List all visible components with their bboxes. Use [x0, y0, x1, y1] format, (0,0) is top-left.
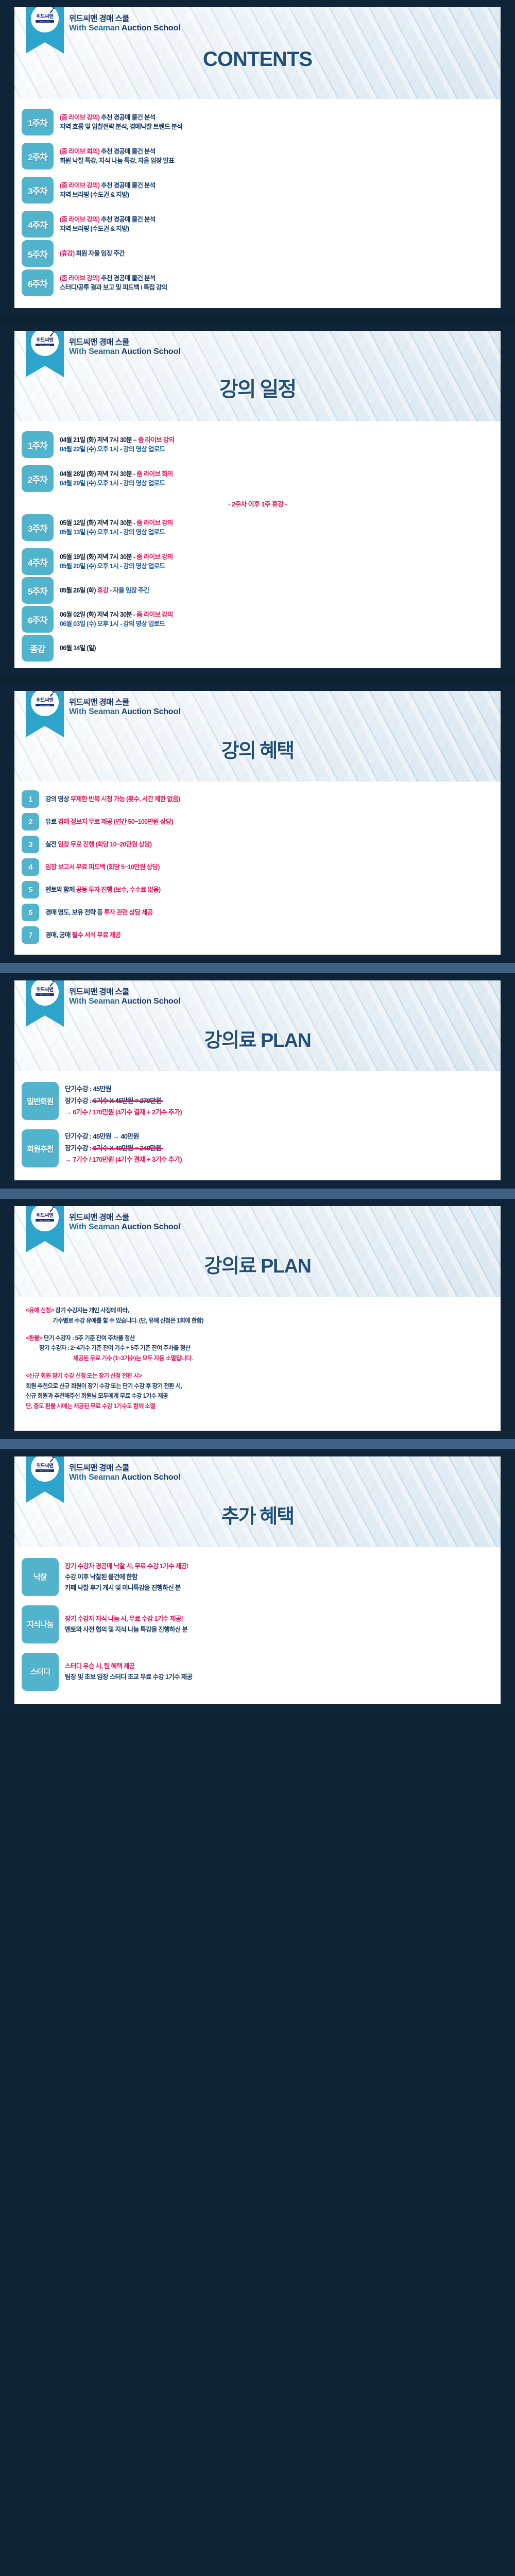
ribbon-fold-icon	[64, 980, 68, 981]
gavel-icon	[49, 980, 55, 987]
benefit-prefix: 경매 명도, 보유 전략 등	[45, 909, 104, 916]
row-line-1: (줌 라이브 강의) 추천 경공매 물건 분석	[60, 181, 492, 190]
logo-en-text: With Seaman	[40, 21, 50, 23]
row-line-2: 지역 흐름 및 입찰전략 분석, 경매낙찰 트렌드 분석	[60, 122, 492, 131]
benefit-hero: 위드씨맨 With Seaman 위드씨맨 경매 스쿨 With Seaman …	[14, 691, 501, 782]
plan-short-course: 단기수강 : 45만원 → 40만원	[65, 1132, 492, 1142]
section-divider	[0, 1439, 515, 1449]
table-row: 3주차 (줌 라이브 강의) 추천 경공매 물건 분석 지역 브리핑 (수도권 …	[14, 173, 501, 207]
extra-card: 위드씨맨 With Seaman 위드씨맨 경매 스쿨 With Seaman …	[14, 1456, 501, 1704]
plan-short-course: 단기수강 : 45만원	[65, 1084, 492, 1094]
benefit-highlight: 임장 보고서 무료 피드백 (회당 5~10만원 상당)	[45, 863, 160, 871]
brand-name-en-1: With Seaman	[69, 24, 122, 32]
ribbon-fold-icon	[64, 691, 68, 691]
row-date: 05월 12일 (화) 저녁 7시 30분 -	[60, 519, 136, 527]
ribbon-fold-icon	[64, 1206, 68, 1207]
extra-detail-1: 수강 이후 낙찰된 물건에 한함	[65, 1572, 492, 1582]
ribbon-fold-icon	[64, 7, 68, 8]
row-tag: 줌 라이브 강의	[136, 611, 173, 618]
note-text: 단기 수강자 : 5주 기준 잔여 주차를 정산	[42, 1335, 135, 1342]
row-line-1: (줌 라이브 강의) 추천 경공매 물건 분석	[60, 113, 492, 122]
extra-rows: 낙찰 장기 수강자 경공매 낙찰 시, 무료 수강 1기수 제공! 수강 이후 …	[14, 1547, 501, 1704]
row-date: 05월 26일 (화)	[60, 587, 97, 594]
brand-name-kr: 위드씨맨 경매 스쿨	[69, 338, 501, 347]
note-line: <유예 신청> 장기 수강자는 개인 사정에 따라,	[26, 1306, 489, 1316]
schedule-card: 위드씨맨 With Seaman 위드씨맨 경매 스쿨 With Seaman …	[14, 331, 501, 668]
extra-hero: 위드씨맨 With Seaman 위드씨맨 경매 스쿨 With Seaman …	[14, 1456, 501, 1547]
brand-name-en-2: Auction School	[122, 24, 181, 32]
row-body: 실전 임장 무료 진행 (회당 10~20만원 상당)	[39, 840, 492, 849]
note-line: 단, 중도 환불 시에는 제공된 무료 수강 1기수도 함께 소멸	[26, 1402, 489, 1412]
row-line-2: 스터디/공투 결과 보고 및 피드백 / 특집 강의	[60, 283, 492, 292]
spacer	[0, 1180, 515, 1189]
gavel-icon	[49, 331, 55, 337]
row-body: 유료 경매 정보지 무료 제공 (연간 50~100만원 상당)	[39, 817, 492, 826]
logo-kr-text: 위드씨맨	[37, 1464, 54, 1469]
benefit-text: 경매, 공매 필수 서식 무료 제공	[45, 930, 492, 940]
plan-long-course: 장기수강 : 6기수 X 45만원 = 270만원	[65, 1096, 492, 1106]
benefit-highlight: 임장 무료 진행 (회당 10~20만원 상당)	[58, 841, 151, 848]
schedule-rows: 1주차 04월 21일 (화) 저녁 7시 30분 – 줌 라이브 강의 04월…	[14, 421, 501, 668]
table-row: 2주차 (줌 라이브 회의) 추천 경공매 물건 분석 회원 낙찰 특강, 지식…	[14, 139, 501, 173]
row-line-2: 회원 낙찰 특강, 지식 나눔 특강, 자율 임장 발표	[60, 156, 492, 165]
row-line-1: 04월 21일 (화) 저녁 7시 30분 – 줌 라이브 강의	[60, 435, 492, 445]
benefit-highlight: 경매 정보지 무료 제공 (연간 50~100만원 상당)	[58, 818, 173, 825]
schedule-title: 강의 일정	[14, 372, 501, 402]
row-line-2: 04월 22일 (수) 오후 1시 - 강의 영상 업로드	[60, 445, 492, 454]
brand-ribbon: 위드씨맨 With Seaman	[26, 331, 64, 366]
brand-ribbon: 위드씨맨 With Seaman	[26, 7, 64, 42]
week-chip: 5주차	[22, 577, 54, 604]
week-chip: 3주차	[22, 177, 54, 204]
spacer	[0, 684, 515, 691]
row-body: 경매 명도, 보유 전략 등 투자 관련 상담 제공	[39, 908, 492, 917]
benefit-prefix: 경매, 공매	[45, 931, 72, 939]
benefit-prefix: 강의 영상	[45, 795, 71, 803]
row-tag: 줌 라이브 강의	[138, 436, 174, 444]
brand-block: 위드씨맨 경매 스쿨 With Seaman Auction School	[14, 1456, 501, 1483]
row-body: 04월 28일 (화) 저녁 7시 30분 - 줌 라이브 회의 04월 29일…	[54, 469, 492, 488]
pricing-row: 일반회원 단기수강 : 45만원 장기수강 : 6기수 X 45만원 = 270…	[14, 1077, 501, 1125]
gavel-icon	[49, 1206, 55, 1212]
brand-block: 위드씨맨 경매 스쿨 With Seaman Auction School	[14, 691, 501, 717]
benefit-rows: 1 강의 영상 무제한 반복 시청 가능 (횟수, 시간 제한 없음) 2 유료…	[14, 782, 501, 955]
note-text: 장기 수강자는 개인 사정에 따라,	[54, 1308, 129, 1314]
table-row: 6주차 (줌 라이브 강의) 추천 경공매 물건 분석 스터디/공투 결과 보고…	[14, 266, 501, 300]
extra-category-chip: 낙찰	[22, 1558, 59, 1596]
table-row: 4주차 (줌 라이브 강의) 추천 경공매 물건 분석 지역 브리핑 (수도권 …	[14, 207, 501, 241]
list-item: 7 경매, 공매 필수 서식 무료 제공	[14, 924, 501, 946]
row-line-1-tag: (줌 라이브 강의)	[60, 275, 99, 282]
table-row: 5주차 05월 26일 (화) 휴강 - 자율 임장 주간	[14, 579, 501, 602]
row-tag: 줌 라이브 강의	[136, 553, 173, 561]
row-line-1-tag: (휴강)	[60, 250, 75, 257]
benefit-text: 실전 임장 무료 진행 (회당 10~20만원 상당)	[45, 840, 492, 849]
section-schedule: 위드씨맨 With Seaman 위드씨맨 경매 스쿨 With Seaman …	[0, 324, 515, 676]
brand-ribbon: 위드씨맨 With Seaman	[26, 1456, 64, 1492]
row-tail: - 자율 임장 주간	[108, 587, 149, 594]
brand-ribbon: 위드씨맨 With Seaman	[26, 980, 64, 1015]
row-body: 장기 수강자 경공매 낙찰 시, 무료 수강 1기수 제공! 수강 이후 낙찰된…	[59, 1560, 492, 1594]
row-line-2: 지역 브리핑 (수도권 & 지방)	[60, 224, 492, 233]
week-chip: 4주차	[22, 548, 54, 575]
brand-name-en-2: Auction School	[122, 707, 181, 716]
benefit-number-chip: 7	[22, 926, 39, 944]
extra-detail-1: 팀장 및 초보 임장 스터디 조교 무료 수강 1기수 제공	[65, 1672, 492, 1682]
plan-offer-price: → 6기수 / 170만원 (4기수 결재 + 2기수 추가)	[65, 1108, 492, 1117]
row-date: 05월 19일 (화) 저녁 7시 30분 -	[60, 553, 136, 561]
row-line-1: (줌 라이브 회의) 추천 경공매 물건 분석	[60, 147, 492, 156]
section-divider	[0, 963, 515, 973]
row-line-1: 05월 12일 (화) 저녁 7시 30분 - 줌 라이브 강의	[60, 518, 492, 528]
table-row: 종강 06월 14일 (일)	[14, 636, 501, 660]
plan-hero: 위드씨맨 With Seaman 위드씨맨 경매 스쿨 With Seaman …	[14, 980, 501, 1071]
plan-notes-hero: 위드씨맨 With Seaman 위드씨맨 경매 스쿨 With Seaman …	[14, 1206, 501, 1297]
row-date: 04월 21일 (화) 저녁 7시 30분 –	[60, 436, 138, 444]
row-line-1: (줌 라이브 강의) 추천 경공매 물건 분석	[60, 274, 492, 283]
brand-name-en-2: Auction School	[122, 1473, 181, 1482]
row-line-2: 지역 브리핑 (수도권 & 지방)	[60, 190, 492, 199]
note-line: 회원 추천으로 신규 회원이 장기 수강 또는 단기 수강 후 장기 전환 시,	[26, 1382, 489, 1392]
section-divider	[0, 316, 515, 324]
logo-kr-text: 위드씨맨	[37, 14, 54, 20]
section-extra-benefit: 위드씨맨 With Seaman 위드씨맨 경매 스쿨 With Seaman …	[0, 1449, 515, 1712]
row-body: 임장 보고서 무료 피드백 (회당 5~10만원 상당)	[39, 862, 492, 872]
spacer	[0, 668, 515, 676]
spacer	[0, 1199, 515, 1206]
logo-kr-text: 위드씨맨	[37, 1213, 54, 1218]
logo-bar: With Seaman	[36, 1219, 54, 1222]
note-line: 제공된 무료 기수 (1~3기수)는 모두 자동 소멸됩니다.	[26, 1354, 489, 1364]
section-divider	[0, 676, 515, 684]
plan-notes-card: 위드씨맨 With Seaman 위드씨맨 경매 스쿨 With Seaman …	[14, 1206, 501, 1431]
brand-block: 위드씨맨 경매 스쿨 With Seaman Auction School	[14, 7, 501, 33]
extra-headline: 스터디 우승 시, 팀 혜택 제공	[65, 1662, 492, 1671]
page-root: 위드씨맨 With Seaman 위드씨맨 경매 스쿨 With Seaman …	[0, 0, 515, 1712]
week-chip: 5주차	[22, 240, 54, 267]
extra-title: 추가 혜택	[14, 1500, 501, 1529]
row-line-1: 06월 14일 (일)	[60, 643, 492, 653]
row-body: 멘토와 함께 공동 투자 진행 (보수, 수수료 없음)	[39, 885, 492, 894]
brand-name-kr: 위드씨맨 경매 스쿨	[69, 698, 501, 707]
row-body: 단기수강 : 45만원 → 40만원 장기수강 : 6기수 X 40만원 = 2…	[59, 1130, 492, 1167]
row-tag: 줌 라이브 강의	[136, 519, 173, 527]
row-line-2: 04월 29일 (수) 오후 1시 - 강의 영상 업로드	[60, 479, 492, 488]
gavel-icon	[49, 1456, 55, 1463]
logo-bar: With Seaman	[36, 993, 54, 996]
row-body: 경매, 공매 필수 서식 무료 제공	[39, 930, 492, 940]
section-contents: 위드씨맨 With Seaman 위드씨맨 경매 스쿨 With Seaman …	[0, 0, 515, 316]
row-date: 04월 28일 (화) 저녁 7시 30분 -	[60, 470, 136, 478]
note-line: 기수별로 수강 유예를 할 수 있습니다. (단, 유예 신청은 1회에 한함)	[26, 1316, 489, 1327]
section-plan-notes: 위드씨맨 With Seaman 위드씨맨 경매 스쿨 With Seaman …	[0, 1199, 515, 1439]
row-tag: 휴강	[97, 587, 109, 594]
list-item: 6 경매 명도, 보유 전략 등 투자 관련 상담 제공	[14, 901, 501, 924]
benefit-number-chip: 3	[22, 836, 39, 853]
benefit-prefix: 실전	[45, 841, 58, 848]
ribbon-fold-icon	[64, 1456, 68, 1457]
contents-card: 위드씨맨 With Seaman 위드씨맨 경매 스쿨 With Seaman …	[14, 7, 501, 308]
table-row: 6주차 06월 02일 (화) 저녁 7시 30분 - 줌 라이브 강의 06월…	[14, 602, 501, 636]
benefit-highlight: 무제한 반복 시청 가능 (횟수, 시간 제한 없음)	[71, 795, 180, 803]
row-body: (휴강) 회원 자율 임장 주간	[54, 249, 492, 258]
week-chip: 2주차	[22, 465, 54, 492]
benefit-card: 위드씨맨 With Seaman 위드씨맨 경매 스쿨 With Seaman …	[14, 691, 501, 955]
ribbon-fold-icon	[64, 331, 68, 331]
list-item: 4 임장 보고서 무료 피드백 (회당 5~10만원 상당)	[14, 856, 501, 878]
brand-name-en-1: With Seaman	[69, 707, 122, 716]
benefit-text: 임장 보고서 무료 피드백 (회당 5~10만원 상당)	[45, 862, 492, 872]
note-line: 신규 회원과 추천해주신 회원님 모두에게 무료 수강 1기수 제공	[26, 1392, 489, 1402]
brand-name-kr: 위드씨맨 경매 스쿨	[69, 1213, 501, 1223]
brand-name-en-1: With Seaman	[69, 1223, 122, 1231]
brand-name-kr: 위드씨맨 경매 스쿨	[69, 988, 501, 997]
brand-ribbon: 위드씨맨 With Seaman	[26, 691, 64, 726]
plan-offer-price: → 7기수 / 170만원 (4기수 결재 + 3기수 추가)	[65, 1155, 492, 1165]
member-type-chip: 회원추천	[22, 1129, 59, 1167]
section-benefit: 위드씨맨 With Seaman 위드씨맨 경매 스쿨 With Seaman …	[0, 684, 515, 963]
spacer	[0, 1704, 515, 1712]
logo-en-text: With Seaman	[40, 704, 50, 706]
list-item: 5 멘토와 함께 공동 투자 진행 (보수, 수수료 없음)	[14, 878, 501, 901]
row-body: 05월 19일 (화) 저녁 7시 30분 - 줌 라이브 강의 05월 20일…	[54, 552, 492, 571]
list-item: 3 실전 임장 무료 진행 (회당 10~20만원 상당)	[14, 833, 501, 856]
spacer	[0, 324, 515, 331]
brand-name-en: With Seaman Auction School	[69, 1473, 501, 1483]
row-body: 04월 21일 (화) 저녁 7시 30분 – 줌 라이브 강의 04월 22일…	[54, 435, 492, 454]
benefit-number-chip: 6	[22, 904, 39, 921]
brand-block: 위드씨맨 경매 스쿨 With Seaman Auction School	[14, 980, 501, 1007]
table-row: 2주차 04월 28일 (화) 저녁 7시 30분 - 줌 라이브 회의 04월…	[14, 462, 501, 496]
note-line: 장기 수강자 : 2~4기수 기준 잔여 기수 + 5주 기준 잔여 주차를 정…	[26, 1344, 489, 1354]
row-line-1: 05월 26일 (화) 휴강 - 자율 임장 주간	[60, 586, 492, 595]
logo-en-text: With Seaman	[40, 1470, 50, 1472]
list-item: 1 강의 영상 무제한 반복 시청 가능 (횟수, 시간 제한 없음)	[14, 788, 501, 810]
extra-headline: 장기 수강자 지식 나눔 시, 무료 수강 1기수 제공!	[65, 1614, 492, 1623]
row-line-1-tag: (줌 라이브 강의)	[60, 216, 99, 223]
row-line-2: 05월 13일 (수) 오후 1시 - 강의 영상 업로드	[60, 528, 492, 537]
logo-kr-text: 위드씨맨	[37, 698, 54, 703]
week-chip: 1주차	[22, 109, 54, 135]
plan-long-course: 장기수강 : 6기수 X 40만원 = 240만원	[65, 1144, 492, 1154]
row-line-1-tag: (줌 라이브 강의)	[60, 182, 99, 189]
brand-name-kr: 위드씨맨 경매 스쿨	[69, 1464, 501, 1473]
week-chip: 2주차	[22, 143, 54, 170]
list-item: 2 유료 경매 정보지 무료 제공 (연간 50~100만원 상당)	[14, 810, 501, 833]
contents-title: CONTENTS	[14, 48, 501, 71]
row-body: 강의 영상 무제한 반복 시청 가능 (횟수, 시간 제한 없음)	[39, 794, 492, 804]
brand-block: 위드씨맨 경매 스쿨 With Seaman Auction School	[14, 1206, 501, 1232]
plan-rows: 일반회원 단기수강 : 45만원 장기수강 : 6기수 X 45만원 = 270…	[14, 1071, 501, 1180]
plan-original-price: 6기수 X 45만원 = 270만원	[93, 1097, 162, 1105]
table-row: 3주차 05월 12일 (화) 저녁 7시 30분 - 줌 라이브 강의 05월…	[14, 511, 501, 545]
brand-name-en-1: With Seaman	[69, 997, 122, 1006]
plan-notes-body: <유예 신청> 장기 수강자는 개인 사정에 따라, 기수별로 수강 유예를 할…	[14, 1297, 501, 1431]
row-body: 05월 26일 (화) 휴강 - 자율 임장 주간	[54, 586, 492, 595]
row-date: 06월 02일 (화) 저녁 7시 30분 -	[60, 611, 136, 618]
benefit-number-chip: 5	[22, 881, 39, 899]
plan-card: 위드씨맨 With Seaman 위드씨맨 경매 스쿨 With Seaman …	[14, 980, 501, 1180]
brand-name-en-1: With Seaman	[69, 1473, 122, 1482]
note-label: <유예 신청>	[26, 1308, 54, 1314]
week-chip: 6주차	[22, 606, 54, 633]
brand-block: 위드씨맨 경매 스쿨 With Seaman Auction School	[14, 331, 501, 357]
extra-row: 지식나눔 장기 수강자 지식 나눔 시, 무료 수강 1기수 제공! 멘토와 사…	[14, 1601, 501, 1648]
row-body: 06월 14일 (일)	[54, 643, 492, 653]
gavel-icon	[49, 7, 55, 13]
logo-bar: With Seaman	[36, 704, 54, 706]
plan-title: 강의료 PLAN	[14, 1024, 501, 1053]
schedule-hero: 위드씨맨 With Seaman 위드씨맨 경매 스쿨 With Seaman …	[14, 331, 501, 421]
benefit-number-chip: 4	[22, 858, 39, 876]
section-divider	[0, 1189, 515, 1199]
brand-name-kr: 위드씨맨 경매 스쿨	[69, 14, 501, 24]
week-chip: 종강	[22, 635, 54, 662]
extra-detail-1: 멘토와 사전 협의 및 지식 나눔 특강을 진행하신 분	[65, 1625, 492, 1634]
plan-long-label: 장기수강 :	[65, 1097, 93, 1105]
benefit-highlight: 필수 서식 무료 제공	[72, 931, 121, 939]
row-body: (줌 라이브 강의) 추천 경공매 물건 분석 지역 브리핑 (수도권 & 지방…	[54, 215, 492, 233]
extra-headline: 장기 수강자 경공매 낙찰 시, 무료 수강 1기수 제공!	[65, 1562, 492, 1571]
plan-notes-title: 강의료 PLAN	[14, 1250, 501, 1278]
note-label: <환불>	[26, 1335, 42, 1342]
row-body: 장기 수강자 지식 나눔 시, 무료 수강 1기수 제공! 멘토와 사전 협의 …	[59, 1613, 492, 1636]
brand-name-en: With Seaman Auction School	[69, 997, 501, 1007]
gavel-icon	[49, 691, 55, 697]
benefit-text: 강의 영상 무제한 반복 시청 가능 (횟수, 시간 제한 없음)	[45, 794, 492, 804]
spacer	[0, 0, 515, 7]
benefit-prefix: 유료	[45, 818, 58, 825]
row-line-1: 04월 28일 (화) 저녁 7시 30분 - 줌 라이브 회의	[60, 469, 492, 479]
note-block-deferral: <유예 신청> 장기 수강자는 개인 사정에 따라, 기수별로 수강 유예를 할…	[26, 1306, 489, 1327]
note-block-referral: <신규 회원 장기 수강 신청 또는 장기 신청 전환 시> 회원 추천으로 신…	[26, 1371, 489, 1412]
row-body: (줌 라이브 강의) 추천 경공매 물건 분석 지역 흐름 및 입찰전략 분석,…	[54, 113, 492, 131]
row-line-2: 05월 20일 (수) 오후 1시 - 강의 영상 업로드	[60, 562, 492, 571]
benefit-highlight: 투자 관련 상담 제공	[104, 909, 153, 916]
benefit-number-chip: 1	[22, 790, 39, 808]
benefit-text: 유료 경매 정보지 무료 제공 (연간 50~100만원 상당)	[45, 817, 492, 826]
member-type-chip: 일반회원	[22, 1082, 59, 1120]
pricing-row: 회원추천 단기수강 : 45만원 → 40만원 장기수강 : 6기수 X 40만…	[14, 1125, 501, 1172]
week-chip: 6주차	[22, 269, 54, 296]
brand-name-en-2: Auction School	[122, 1223, 181, 1231]
brand-name-en-2: Auction School	[122, 347, 181, 356]
row-body: 06월 02일 (화) 저녁 7시 30분 - 줌 라이브 강의 06월 03일…	[54, 610, 492, 629]
extra-category-chip: 지식나눔	[22, 1605, 59, 1643]
benefit-title: 강의 혜택	[14, 735, 501, 763]
row-body: 05월 12일 (화) 저녁 7시 30분 - 줌 라이브 강의 05월 13일…	[54, 518, 492, 537]
spacer	[0, 1431, 515, 1439]
benefit-highlight: 공동 투자 진행 (보수, 수수료 없음)	[76, 886, 161, 893]
row-line-1-tag: (줌 라이브 회의)	[60, 148, 99, 155]
row-body: 스터디 우승 시, 팀 혜택 제공 팀장 및 초보 임장 스터디 조교 무료 수…	[59, 1660, 492, 1683]
note-line: <환불> 단기 수강자 : 5주 기준 잔여 주차를 정산	[26, 1334, 489, 1344]
plan-original-price: 6기수 X 40만원 = 240만원	[93, 1144, 162, 1152]
logo-bar: With Seaman	[36, 20, 54, 23]
brand-name-en: With Seaman Auction School	[69, 707, 501, 717]
row-line-2: 06월 03일 (수) 오후 1시 - 강의 영상 업로드	[60, 619, 492, 629]
logo-bar: With Seaman	[36, 344, 54, 346]
brand-name-en-1: With Seaman	[69, 347, 122, 356]
section-plan: 위드씨맨 With Seaman 위드씨맨 경매 스쿨 With Seaman …	[0, 973, 515, 1189]
row-body: (줌 라이브 강의) 추천 경공매 물건 분석 지역 브리핑 (수도권 & 지방…	[54, 181, 492, 199]
week-chip: 4주차	[22, 211, 54, 238]
row-body: (줌 라이브 회의) 추천 경공매 물건 분석 회원 낙찰 특강, 지식 나눔 …	[54, 147, 492, 165]
benefit-text: 멘토와 함께 공동 투자 진행 (보수, 수수료 없음)	[45, 885, 492, 894]
logo-bar: With Seaman	[36, 1469, 54, 1472]
extra-row: 낙찰 장기 수강자 경공매 낙찰 시, 무료 수강 1기수 제공! 수강 이후 …	[14, 1553, 501, 1601]
table-row: 4주차 05월 19일 (화) 저녁 7시 30분 - 줌 라이브 강의 05월…	[14, 545, 501, 579]
logo-en-text: With Seaman	[40, 1219, 50, 1222]
brand-name-en: With Seaman Auction School	[69, 1223, 501, 1232]
extra-row: 스터디 스터디 우승 시, 팀 혜택 제공 팀장 및 초보 임장 스터디 조교 …	[14, 1648, 501, 1696]
row-line-1: 06월 02일 (화) 저녁 7시 30분 - 줌 라이브 강의	[60, 610, 492, 619]
logo-kr-text: 위드씨맨	[37, 338, 54, 343]
row-line-1: 05월 19일 (화) 저녁 7시 30분 - 줌 라이브 강의	[60, 552, 492, 562]
row-line-1-tag: (줌 라이브 강의)	[60, 114, 99, 121]
week-chip: 1주차	[22, 431, 54, 458]
row-line-1: (줌 라이브 강의) 추천 경공매 물건 분석	[60, 215, 492, 224]
brand-name-en: With Seaman Auction School	[69, 347, 501, 357]
table-row: 1주차 (줌 라이브 강의) 추천 경공매 물건 분석 지역 흐름 및 입찰전략…	[14, 105, 501, 139]
row-tag: 줌 라이브 회의	[136, 470, 173, 478]
brand-name-en-2: Auction School	[122, 997, 181, 1006]
row-body: (줌 라이브 강의) 추천 경공매 물건 분석 스터디/공투 결과 보고 및 피…	[54, 274, 492, 292]
note-block-refund: <환불> 단기 수강자 : 5주 기준 잔여 주차를 정산 장기 수강자 : 2…	[26, 1334, 489, 1364]
brand-name-en: With Seaman Auction School	[69, 24, 501, 33]
logo-en-text: With Seaman	[40, 994, 50, 996]
spacer	[0, 308, 515, 316]
note-label: <신규 회원 장기 수강 신청 또는 장기 신청 전환 시>	[26, 1371, 489, 1382]
extra-detail-2: 카페 낙찰 후기 게시 및 미니특강을 진행하신 분	[65, 1583, 492, 1592]
logo-kr-text: 위드씨맨	[37, 988, 54, 993]
benefit-text: 경매 명도, 보유 전략 등 투자 관련 상담 제공	[45, 908, 492, 917]
contents-hero: 위드씨맨 With Seaman 위드씨맨 경매 스쿨 With Seaman …	[14, 7, 501, 99]
table-row: 5주차 (휴강) 회원 자율 임장 주간	[14, 241, 501, 266]
break-note: - 2주차 이후 1주 휴강 -	[14, 496, 501, 511]
benefit-prefix: 멘토와 함께	[45, 886, 76, 893]
table-row: 1주차 04월 21일 (화) 저녁 7시 30분 – 줌 라이브 강의 04월…	[14, 428, 501, 462]
logo-en-text: With Seaman	[40, 344, 50, 346]
contents-rows: 1주차 (줌 라이브 강의) 추천 경공매 물건 분석 지역 흐름 및 입찰전략…	[14, 99, 501, 308]
brand-ribbon: 위드씨맨 With Seaman	[26, 1206, 64, 1241]
week-chip: 3주차	[22, 514, 54, 541]
spacer	[0, 973, 515, 980]
benefit-number-chip: 2	[22, 813, 39, 831]
row-body: 단기수강 : 45만원 장기수강 : 6기수 X 45만원 = 270만원 → …	[59, 1082, 492, 1120]
row-line-1: (휴강) 회원 자율 임장 주간	[60, 249, 492, 258]
plan-long-label: 장기수강 :	[65, 1144, 93, 1152]
spacer	[0, 955, 515, 963]
extra-category-chip: 스터디	[22, 1653, 59, 1691]
spacer	[0, 1449, 515, 1456]
